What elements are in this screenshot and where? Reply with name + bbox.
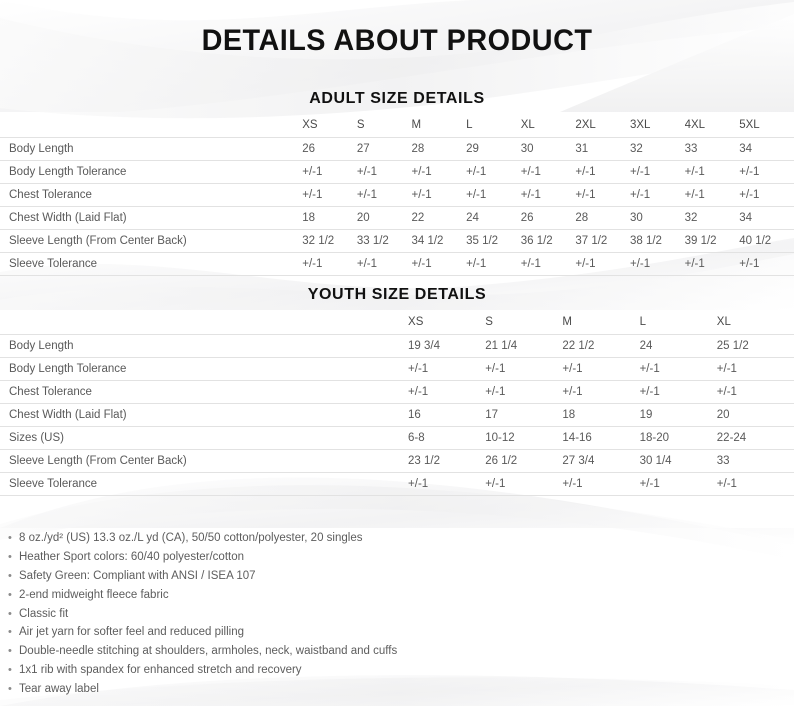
youth-cell: 10-12 xyxy=(485,426,562,449)
adult-column-header-2xl: 2XL xyxy=(575,113,630,137)
adult-column-header-3xl: 3XL xyxy=(630,113,685,137)
table-row: Body Length Tolerance+/-1+/-1+/-1+/-1+/-… xyxy=(0,160,794,183)
youth-cell: +/-1 xyxy=(640,472,717,495)
adult-cell: +/-1 xyxy=(302,183,357,206)
youth-column-header-xs: XS xyxy=(408,310,485,334)
youth-cell: 30 1/4 xyxy=(640,449,717,472)
adult-cell: 32 xyxy=(685,206,740,229)
youth-table-body: Body Length19 3/421 1/422 1/22425 1/2Bod… xyxy=(0,334,794,495)
adult-cell: +/-1 xyxy=(302,160,357,183)
adult-column-header-xs: XS xyxy=(302,113,357,137)
youth-cell: +/-1 xyxy=(562,472,639,495)
feature-list-item: 2-end midweight fleece fabric xyxy=(0,586,560,605)
adult-row-label: Body Length xyxy=(0,137,302,160)
adult-cell: +/-1 xyxy=(411,160,466,183)
adult-row-label: Sleeve Tolerance xyxy=(0,252,302,275)
table-row: Chest Width (Laid Flat)18202224262830323… xyxy=(0,206,794,229)
adult-table-head: XSSMLXL2XL3XL4XL5XL xyxy=(0,113,794,137)
youth-table-header-row: XSSMLXL xyxy=(0,310,794,334)
adult-cell: 33 xyxy=(685,137,740,160)
adult-cell: 30 xyxy=(630,206,685,229)
adult-cell: 32 xyxy=(630,137,685,160)
adult-cell: 29 xyxy=(466,137,521,160)
adult-cell: 40 1/2 xyxy=(739,229,794,252)
table-row: Sleeve Tolerance+/-1+/-1+/-1+/-1+/-1 xyxy=(0,472,794,495)
youth-cell: 18 xyxy=(562,403,639,426)
youth-table-corner-cell xyxy=(0,310,408,334)
table-row: Sizes (US)6-810-1214-1618-2022-24 xyxy=(0,426,794,449)
adult-cell: 31 xyxy=(575,137,630,160)
youth-row-label: Chest Tolerance xyxy=(0,380,408,403)
table-row: Sleeve Length (From Center Back)23 1/226… xyxy=(0,449,794,472)
adult-cell: +/-1 xyxy=(739,183,794,206)
adult-cell: 37 1/2 xyxy=(575,229,630,252)
table-row: Sleeve Tolerance+/-1+/-1+/-1+/-1+/-1+/-1… xyxy=(0,252,794,275)
adult-column-header-5xl: 5XL xyxy=(739,113,794,137)
table-row: Body Length Tolerance+/-1+/-1+/-1+/-1+/-… xyxy=(0,357,794,380)
feature-list-item: Safety Green: Compliant with ANSI / ISEA… xyxy=(0,567,560,586)
adult-cell: +/-1 xyxy=(466,160,521,183)
adult-column-header-s: S xyxy=(357,113,412,137)
youth-cell: +/-1 xyxy=(562,380,639,403)
adult-cell: 35 1/2 xyxy=(466,229,521,252)
adult-cell: +/-1 xyxy=(466,183,521,206)
youth-cell: 18-20 xyxy=(640,426,717,449)
youth-cell: 20 xyxy=(717,403,794,426)
youth-column-header-l: L xyxy=(640,310,717,334)
youth-cell: 19 3/4 xyxy=(408,334,485,357)
adult-cell: 26 xyxy=(521,206,576,229)
adult-cell: +/-1 xyxy=(739,160,794,183)
adult-cell: 33 1/2 xyxy=(357,229,412,252)
youth-cell: 22-24 xyxy=(717,426,794,449)
youth-cell: +/-1 xyxy=(408,380,485,403)
adult-cell: 27 xyxy=(357,137,412,160)
adult-column-header-xl: XL xyxy=(521,113,576,137)
feature-list-item: Double-needle stitching at shoulders, ar… xyxy=(0,642,560,661)
youth-cell: +/-1 xyxy=(717,357,794,380)
youth-cell: +/-1 xyxy=(717,380,794,403)
feature-list-item: 8 oz./yd² (US) 13.3 oz./L yd (CA), 50/50… xyxy=(0,529,560,548)
table-row: Chest Width (Laid Flat)1617181920 xyxy=(0,403,794,426)
adult-cell: +/-1 xyxy=(630,160,685,183)
adult-cell: +/-1 xyxy=(685,252,740,275)
adult-table-corner-cell xyxy=(0,113,302,137)
youth-cell: +/-1 xyxy=(485,380,562,403)
adult-cell: +/-1 xyxy=(411,252,466,275)
youth-row-label: Body Length xyxy=(0,334,408,357)
table-row: Chest Tolerance+/-1+/-1+/-1+/-1+/-1 xyxy=(0,380,794,403)
youth-cell: 24 xyxy=(640,334,717,357)
feature-list-item: Classic fit xyxy=(0,605,560,624)
adult-cell: 34 xyxy=(739,137,794,160)
feature-list-item: 1x1 rib with spandex for enhanced stretc… xyxy=(0,661,560,680)
feature-list-item: Heather Sport colors: 60/40 polyester/co… xyxy=(0,548,560,567)
adult-cell: 22 xyxy=(411,206,466,229)
youth-cell: 27 3/4 xyxy=(562,449,639,472)
page-title: DETAILS ABOUT PRODUCT xyxy=(16,24,778,58)
adult-column-header-m: M xyxy=(411,113,466,137)
table-row: Body Length262728293031323334 xyxy=(0,137,794,160)
youth-column-header-s: S xyxy=(485,310,562,334)
product-details-page: DETAILS ABOUT PRODUCT ADULT SIZE DETAILS… xyxy=(0,0,794,706)
adult-cell: 20 xyxy=(357,206,412,229)
youth-row-label: Body Length Tolerance xyxy=(0,357,408,380)
table-row: Chest Tolerance+/-1+/-1+/-1+/-1+/-1+/-1+… xyxy=(0,183,794,206)
youth-cell: 25 1/2 xyxy=(717,334,794,357)
youth-cell: 26 1/2 xyxy=(485,449,562,472)
table-row: Body Length19 3/421 1/422 1/22425 1/2 xyxy=(0,334,794,357)
adult-cell: +/-1 xyxy=(630,252,685,275)
youth-cell: 21 1/4 xyxy=(485,334,562,357)
adult-cell: +/-1 xyxy=(575,252,630,275)
adult-row-label: Chest Width (Laid Flat) xyxy=(0,206,302,229)
adult-cell: +/-1 xyxy=(466,252,521,275)
youth-cell: 22 1/2 xyxy=(562,334,639,357)
youth-cell: 6-8 xyxy=(408,426,485,449)
adult-cell: +/-1 xyxy=(630,183,685,206)
adult-cell: +/-1 xyxy=(575,160,630,183)
youth-cell: +/-1 xyxy=(562,357,639,380)
adult-cell: +/-1 xyxy=(685,160,740,183)
adult-cell: 38 1/2 xyxy=(630,229,685,252)
adult-column-header-4xl: 4XL xyxy=(685,113,740,137)
adult-cell: 24 xyxy=(466,206,521,229)
adult-size-section-title: ADULT SIZE DETAILS xyxy=(0,90,794,108)
adult-column-header-l: L xyxy=(466,113,521,137)
adult-cell: +/-1 xyxy=(521,160,576,183)
adult-cell: +/-1 xyxy=(521,252,576,275)
youth-cell: 19 xyxy=(640,403,717,426)
youth-cell: 33 xyxy=(717,449,794,472)
youth-row-label: Chest Width (Laid Flat) xyxy=(0,403,408,426)
adult-row-label: Body Length Tolerance xyxy=(0,160,302,183)
adult-table-body: Body Length262728293031323334Body Length… xyxy=(0,137,794,275)
feature-list-item: Air jet yarn for softer feel and reduced… xyxy=(0,623,560,642)
youth-row-label: Sizes (US) xyxy=(0,426,408,449)
youth-row-label: Sleeve Length (From Center Back) xyxy=(0,449,408,472)
adult-cell: +/-1 xyxy=(739,252,794,275)
adult-cell: 30 xyxy=(521,137,576,160)
youth-cell: +/-1 xyxy=(640,380,717,403)
adult-cell: +/-1 xyxy=(521,183,576,206)
youth-cell: +/-1 xyxy=(485,357,562,380)
adult-table-header-row: XSSMLXL2XL3XL4XL5XL xyxy=(0,113,794,137)
youth-cell: 23 1/2 xyxy=(408,449,485,472)
youth-cell: +/-1 xyxy=(485,472,562,495)
adult-cell: 34 xyxy=(739,206,794,229)
adult-cell: 39 1/2 xyxy=(685,229,740,252)
youth-cell: +/-1 xyxy=(408,357,485,380)
adult-cell: 36 1/2 xyxy=(521,229,576,252)
youth-table-head: XSSMLXL xyxy=(0,310,794,334)
adult-cell: 28 xyxy=(575,206,630,229)
youth-size-section-title: YOUTH SIZE DETAILS xyxy=(0,286,794,304)
youth-cell: +/-1 xyxy=(408,472,485,495)
adult-cell: +/-1 xyxy=(575,183,630,206)
youth-column-header-xl: XL xyxy=(717,310,794,334)
adult-cell: +/-1 xyxy=(357,252,412,275)
adult-cell: +/-1 xyxy=(685,183,740,206)
youth-cell: 14-16 xyxy=(562,426,639,449)
youth-cell: 17 xyxy=(485,403,562,426)
table-row: Sleeve Length (From Center Back)32 1/233… xyxy=(0,229,794,252)
youth-column-header-m: M xyxy=(562,310,639,334)
adult-row-label: Chest Tolerance xyxy=(0,183,302,206)
adult-cell: 32 1/2 xyxy=(302,229,357,252)
youth-cell: +/-1 xyxy=(717,472,794,495)
youth-size-table: XSSMLXL Body Length19 3/421 1/422 1/2242… xyxy=(0,310,794,496)
adult-cell: +/-1 xyxy=(411,183,466,206)
youth-cell: +/-1 xyxy=(640,357,717,380)
feature-list-item: Tear away label xyxy=(0,680,560,699)
adult-cell: 28 xyxy=(411,137,466,160)
adult-cell: +/-1 xyxy=(357,183,412,206)
adult-size-table: XSSMLXL2XL3XL4XL5XL Body Length262728293… xyxy=(0,113,794,276)
adult-cell: +/-1 xyxy=(302,252,357,275)
adult-cell: 18 xyxy=(302,206,357,229)
product-feature-list: 8 oz./yd² (US) 13.3 oz./L yd (CA), 50/50… xyxy=(0,529,560,699)
adult-cell: 26 xyxy=(302,137,357,160)
adult-row-label: Sleeve Length (From Center Back) xyxy=(0,229,302,252)
adult-cell: +/-1 xyxy=(357,160,412,183)
adult-cell: 34 1/2 xyxy=(411,229,466,252)
youth-row-label: Sleeve Tolerance xyxy=(0,472,408,495)
youth-cell: 16 xyxy=(408,403,485,426)
